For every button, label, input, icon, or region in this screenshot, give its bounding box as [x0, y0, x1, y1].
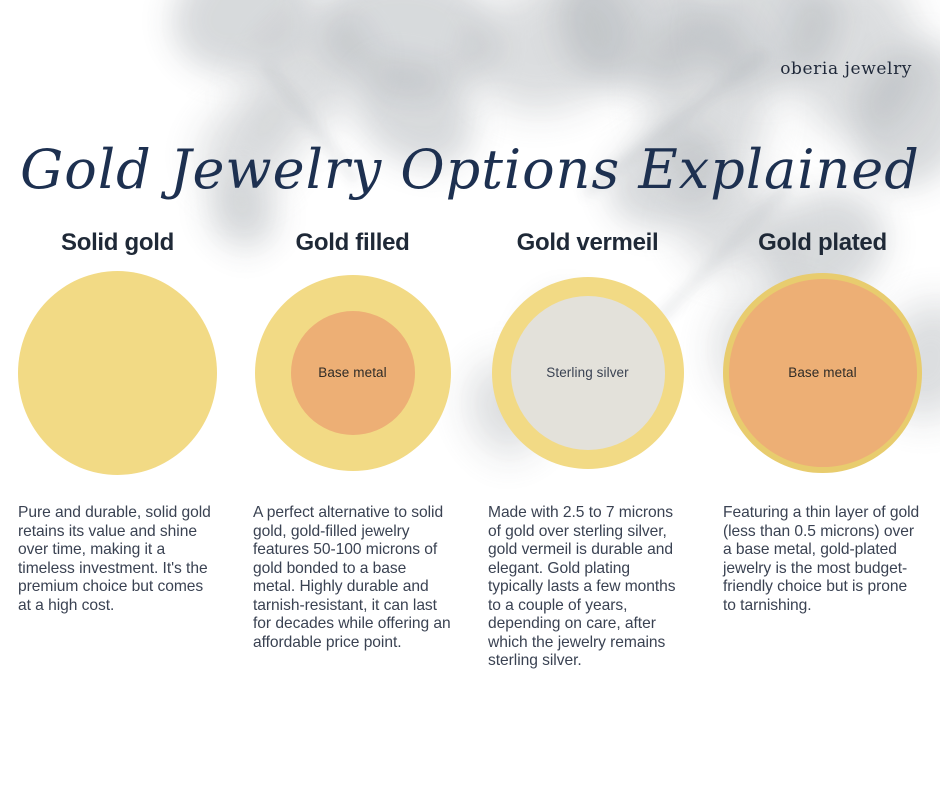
core-label: Base metal [318, 365, 387, 381]
option-heading: Solid gold [61, 228, 174, 264]
leaf-shadow-icon [149, 0, 338, 96]
core-label: Base metal [788, 365, 857, 381]
option-column-gold-vermeil: Gold vermeil Sterling silver Made with 2… [470, 228, 705, 687]
diagram-gold-filled: Base metal [253, 264, 452, 482]
option-column-solid-gold: Solid gold Pure and durable, solid gold … [0, 228, 235, 687]
page-title: Gold Jewelry Options Explained [0, 142, 940, 199]
option-description: A perfect alternative to solid gold, gol… [253, 504, 452, 652]
option-description: Made with 2.5 to 7 microns of gold over … [488, 504, 687, 671]
leaf-shadow-icon [452, 0, 656, 131]
core-label: Sterling silver [546, 365, 629, 381]
option-column-gold-plated: Gold plated Base metal Featuring a thin … [705, 228, 940, 687]
option-heading: Gold vermeil [517, 228, 659, 264]
options-columns: Solid gold Pure and durable, solid gold … [0, 228, 940, 687]
leaf-shadow-icon [537, 0, 732, 113]
gold-layer-circle: Base metal [255, 275, 451, 471]
brand-wordmark: oberia jewelry [780, 59, 912, 79]
option-description: Featuring a thin layer of gold (less tha… [723, 504, 922, 615]
gold-layer-circle [18, 271, 217, 475]
diagram-solid-gold [18, 264, 217, 482]
option-description: Pure and durable, solid gold retains its… [18, 504, 217, 615]
diagram-gold-plated: Base metal [723, 264, 922, 482]
infographic-canvas: oberia jewelry Gold Jewelry Options Expl… [0, 0, 940, 788]
option-heading: Gold filled [295, 228, 409, 264]
base-metal-core-circle: Base metal [291, 311, 415, 435]
gold-layer-circle: Base metal [723, 273, 922, 473]
leaf-shadow-icon [221, 0, 391, 161]
leaf-shadow-icon [305, 0, 511, 114]
base-metal-core-circle: Base metal [729, 279, 917, 467]
diagram-gold-vermeil: Sterling silver [488, 264, 687, 482]
option-column-gold-filled: Gold filled Base metal A perfect alterna… [235, 228, 470, 687]
sterling-silver-core-circle: Sterling silver [511, 296, 665, 450]
option-heading: Gold plated [758, 228, 887, 264]
gold-layer-circle: Sterling silver [492, 277, 684, 469]
